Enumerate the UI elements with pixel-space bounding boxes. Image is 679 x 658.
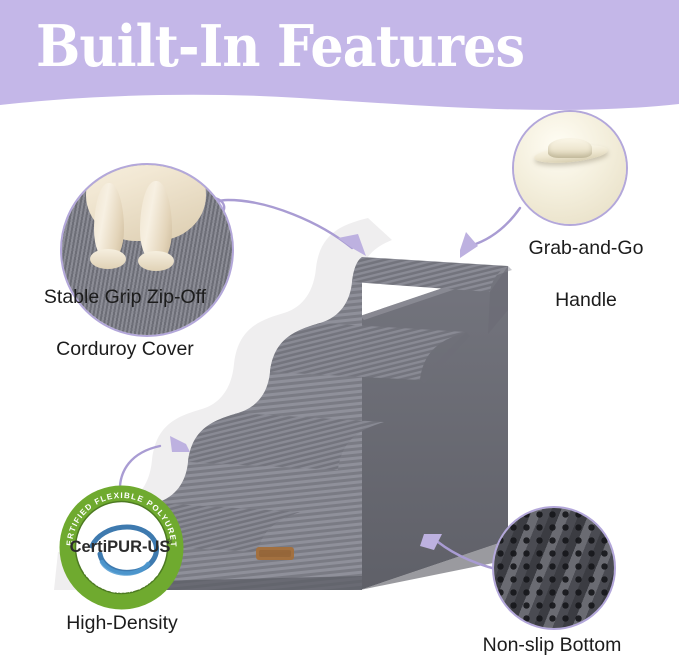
dog-paw-right (138, 251, 174, 271)
handle-arch (548, 138, 592, 158)
foam-surface (514, 112, 626, 224)
non-slip-dot-pattern (494, 508, 614, 628)
label-non-slip: Non-slip Bottom (452, 632, 652, 658)
label-handle-line1: Grab-and-Go (529, 237, 644, 259)
label-corduroy-line2: Corduroy Cover (56, 338, 194, 360)
label-foam: High-Density 33D Foam (12, 610, 232, 658)
inset-handle (512, 110, 628, 226)
inset-non-slip (492, 506, 616, 630)
label-corduroy-line1: Stable Grip Zip-Off (44, 286, 206, 308)
label-handle: Grab-and-Go Handle (498, 235, 674, 339)
certipur-us-badge: CONTAINS CERTIFIED FLEXIBLE POLYURETHANE… (58, 484, 185, 611)
infographic-canvas: Built-In Features (0, 0, 679, 658)
arrowhead-corduroy (338, 234, 366, 256)
badge-center-text: CertiPUR-US (70, 538, 171, 556)
badge-registered-mark: ® (167, 538, 173, 546)
label-non-slip-line1: Non-slip Bottom (483, 634, 622, 656)
arrowhead-handle (460, 232, 478, 258)
label-corduroy-cover: Stable Grip Zip-Off Corduroy Cover (18, 284, 232, 388)
label-handle-line2: Handle (555, 289, 617, 311)
label-foam-line1: High-Density (66, 612, 178, 634)
arrowhead-foam (170, 436, 190, 452)
dog-paw-left (90, 249, 126, 269)
